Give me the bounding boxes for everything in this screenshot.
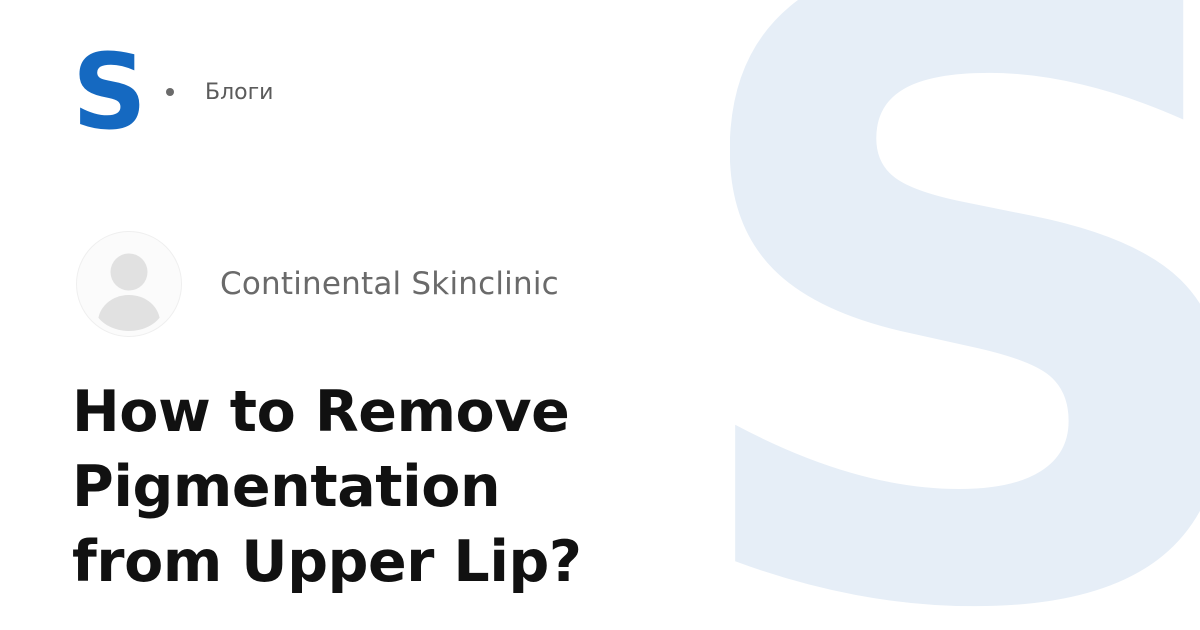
post-title-line-1: How to Remove Pigmentation bbox=[72, 375, 952, 525]
post-title-line-2: from Upper Lip? bbox=[72, 525, 952, 600]
site-logo-s-icon[interactable]: S bbox=[72, 46, 138, 138]
card-header: S Блоги bbox=[72, 46, 273, 138]
breadcrumb-item-blogs[interactable]: Блоги bbox=[205, 80, 273, 105]
avatar[interactable] bbox=[76, 231, 182, 337]
user-placeholder-icon bbox=[77, 232, 181, 336]
author-row: Continental Skinclinic bbox=[76, 231, 559, 337]
breadcrumb-bullet-icon bbox=[166, 88, 174, 96]
author-name[interactable]: Continental Skinclinic bbox=[220, 266, 559, 302]
share-card: S S Блоги Continental Skinclinic How to … bbox=[0, 0, 1200, 630]
post-title: How to Remove Pigmentation from Upper Li… bbox=[72, 375, 952, 600]
